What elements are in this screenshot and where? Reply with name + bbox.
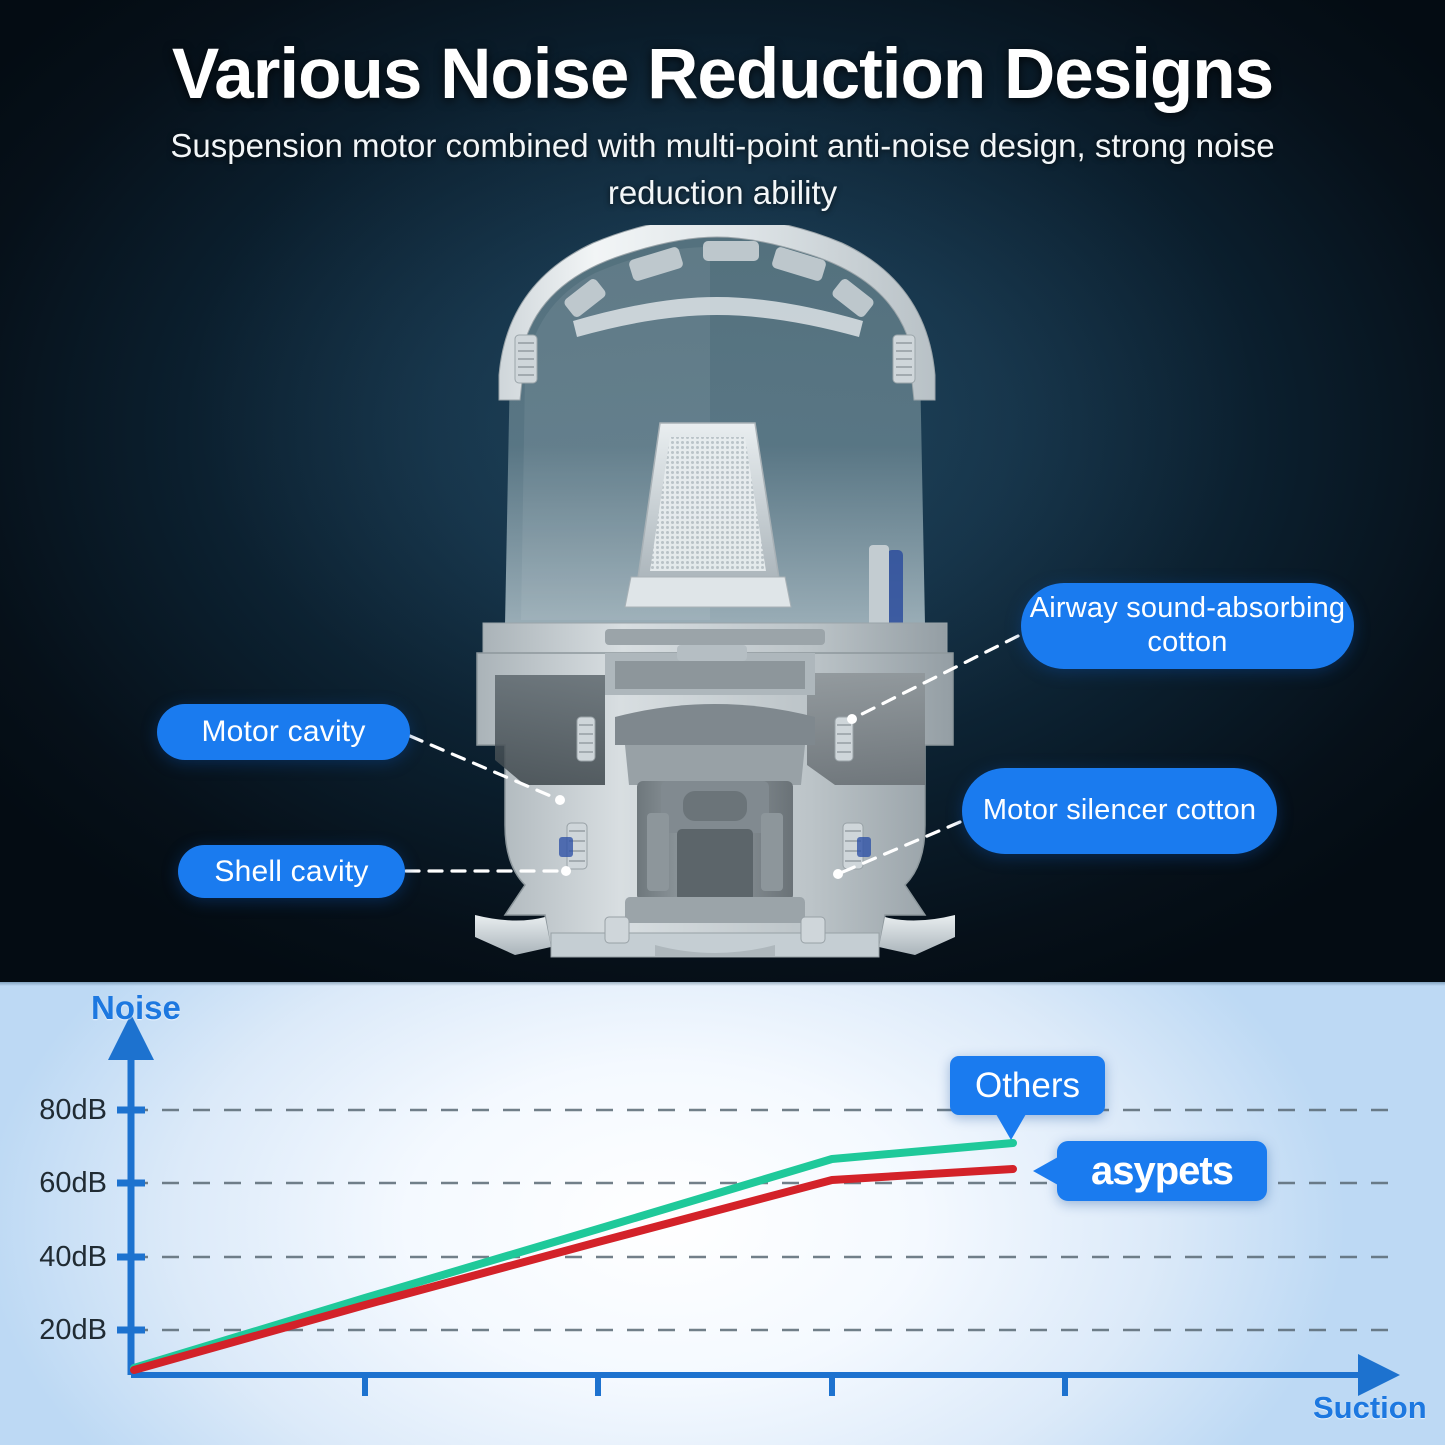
ytick-40db: 40dB [33, 1241, 107, 1274]
callout-shell-cavity-label: Shell cavity [214, 854, 368, 889]
x-axis-label: Suction [1313, 1390, 1427, 1426]
callout-motor-cavity-label: Motor cavity [201, 714, 365, 749]
ytick-60db: 60dB [33, 1167, 107, 1200]
series-asypets-line [134, 1169, 1013, 1370]
ytick-80db: 80dB [33, 1094, 107, 1127]
callout-silencer-cotton[interactable]: Motor silencer cotton [962, 768, 1277, 854]
y-axis-label: Noise [91, 989, 181, 1027]
annotation-others-label: Others [975, 1066, 1080, 1106]
page-subtitle: Suspension motor combined with multi-poi… [158, 122, 1288, 216]
noise-vs-suction-chart: 0 4Kpa 8Kpa 12Kpa 16Kpa [0, 982, 1445, 1445]
annotation-others[interactable]: Others [950, 1056, 1105, 1115]
callout-airway-cotton-label: Airway sound-absorbing cotton [1029, 592, 1346, 660]
annotation-asypets[interactable]: asypets [1057, 1141, 1267, 1201]
callout-airway-cotton[interactable]: Airway sound-absorbing cotton [1021, 583, 1354, 669]
product-infographic-page: Various Noise Reduction Designs Suspensi… [0, 0, 1445, 1445]
callout-shell-cavity[interactable]: Shell cavity [178, 845, 405, 898]
page-title: Various Noise Reduction Designs [0, 34, 1445, 115]
ytick-20db: 20dB [33, 1314, 107, 1347]
chart-canvas [0, 982, 1445, 1445]
device-cutaway-illustration [455, 225, 975, 965]
annotation-asypets-label: asypets [1091, 1149, 1233, 1194]
callout-motor-cavity[interactable]: Motor cavity [157, 704, 410, 760]
callout-silencer-cotton-label: Motor silencer cotton [983, 794, 1256, 828]
